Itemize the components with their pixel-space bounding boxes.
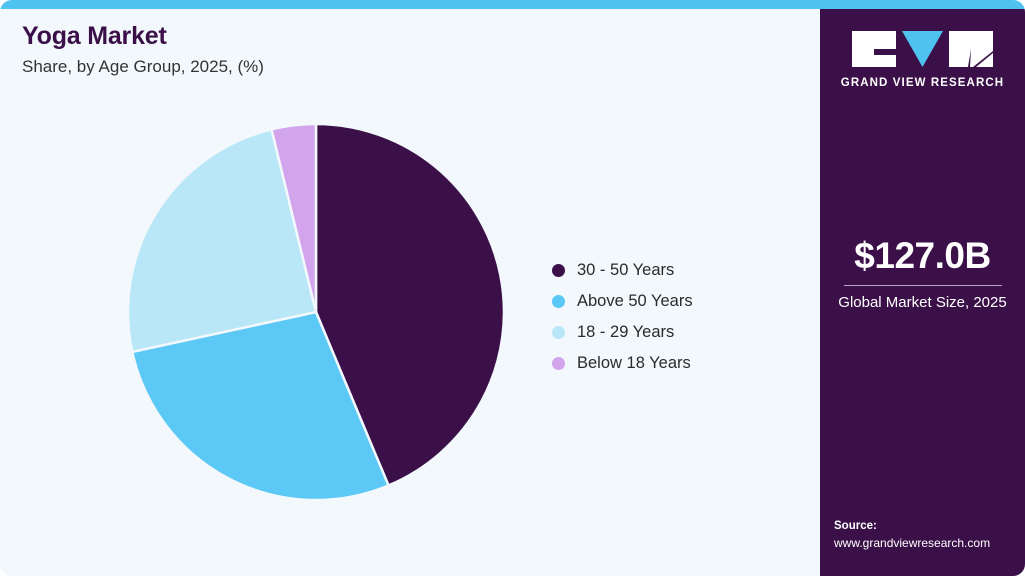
- legend-item[interactable]: 18 - 29 Years: [552, 317, 693, 348]
- source-label: Source:: [834, 518, 1019, 535]
- legend-swatch-icon: [552, 357, 565, 370]
- legend-item-label: Below 18 Years: [577, 354, 691, 373]
- source-url[interactable]: www.grandviewresearch.com: [834, 535, 1019, 552]
- legend-item[interactable]: 30 - 50 Years: [552, 255, 693, 286]
- pie-chart-svg: 30 - 50 Years: 43.7%Above 50 Years: 27.9…: [128, 124, 504, 500]
- market-size-callout: $127.0B Global Market Size, 2025: [820, 237, 1025, 312]
- gvr-logo-icon: [852, 29, 993, 69]
- page-title: Yoga Market: [22, 22, 782, 51]
- legend-item[interactable]: Below 18 Years: [552, 348, 693, 379]
- chart-subtitle: Share, by Age Group, 2025, (%): [22, 56, 782, 78]
- market-size-value: $127.0B: [820, 237, 1025, 276]
- brand-logo: GRAND VIEW RESEARCH: [820, 29, 1025, 89]
- legend-item-label: 18 - 29 Years: [577, 323, 674, 342]
- pie-chart: 30 - 50 Years: 43.7%Above 50 Years: 27.9…: [128, 124, 504, 500]
- legend-swatch-icon: [552, 326, 565, 339]
- chart-header: Yoga Market Share, by Age Group, 2025, (…: [22, 22, 782, 78]
- legend-swatch-icon: [552, 264, 565, 277]
- source-block: Source: www.grandviewresearch.com: [834, 518, 1019, 552]
- legend-item-label: Above 50 Years: [577, 292, 693, 311]
- pie-slice-group: 30 - 50 Years: 43.7%Above 50 Years: 27.9…: [128, 124, 504, 500]
- legend-item[interactable]: Above 50 Years: [552, 286, 693, 317]
- accent-top-strip: [0, 0, 1025, 9]
- chart-card: Yoga Market Share, by Age Group, 2025, (…: [0, 0, 1025, 576]
- sidebar-panel: GRAND VIEW RESEARCH $127.0B Global Marke…: [820, 9, 1025, 576]
- market-size-caption: Global Market Size, 2025: [820, 293, 1025, 313]
- legend-item-label: 30 - 50 Years: [577, 261, 674, 280]
- divider: [844, 285, 1002, 286]
- brand-wordmark: GRAND VIEW RESEARCH: [820, 77, 1025, 89]
- chart-legend: 30 - 50 YearsAbove 50 Years18 - 29 Years…: [552, 255, 693, 379]
- legend-swatch-icon: [552, 295, 565, 308]
